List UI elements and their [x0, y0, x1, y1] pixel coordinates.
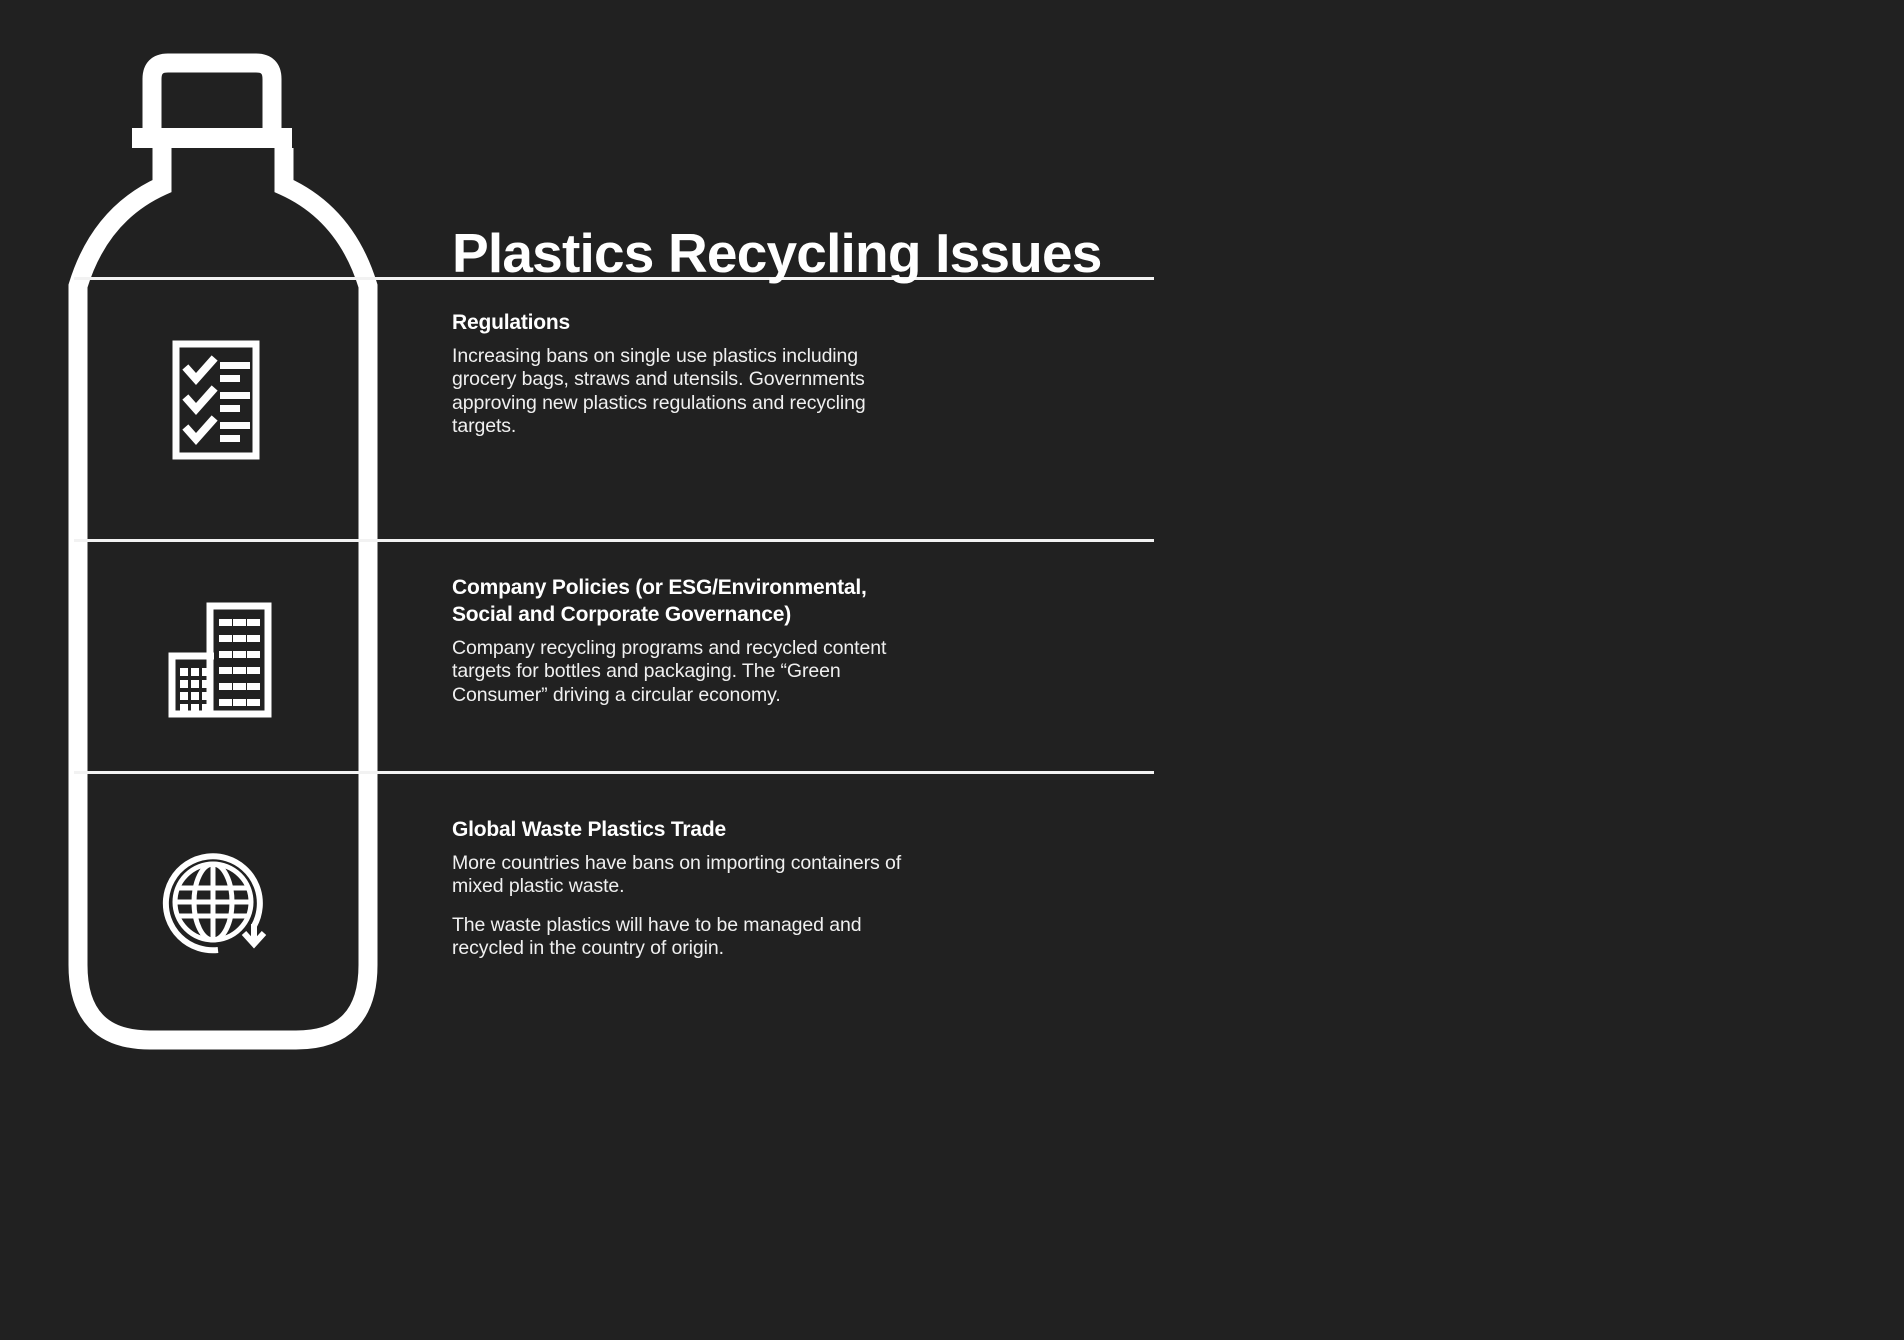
globe-import-icon	[158, 840, 278, 970]
divider-after-company-policies	[74, 771, 1154, 774]
section-regulations: Regulations Increasing bans on single us…	[452, 310, 922, 438]
section-global-waste-plastics-trade: Global Waste Plastics Trade More countri…	[452, 817, 922, 960]
section-heading: Company Policies (or ESG/Environmental, …	[452, 575, 922, 629]
page-title: Plastics Recycling Issues	[452, 225, 1102, 283]
section-paragraph: Increasing bans on single use plastics i…	[452, 345, 922, 439]
section-paragraph: Company recycling programs and recycled …	[452, 637, 922, 707]
checklist-icon	[162, 338, 282, 468]
section-company-policies: Company Policies (or ESG/Environmental, …	[452, 575, 922, 707]
section-paragraph: More countries have bans on importing co…	[452, 852, 922, 899]
section-heading: Global Waste Plastics Trade	[452, 817, 922, 844]
office-buildings-icon	[158, 592, 278, 722]
section-heading: Regulations	[452, 310, 922, 337]
plastic-bottle-outline-icon	[0, 0, 1904, 1340]
infographic-canvas: Plastics Recycling Issues	[0, 0, 1904, 1340]
divider-after-regulations	[74, 539, 1154, 542]
section-paragraph: The waste plastics will have to be manag…	[452, 914, 922, 961]
